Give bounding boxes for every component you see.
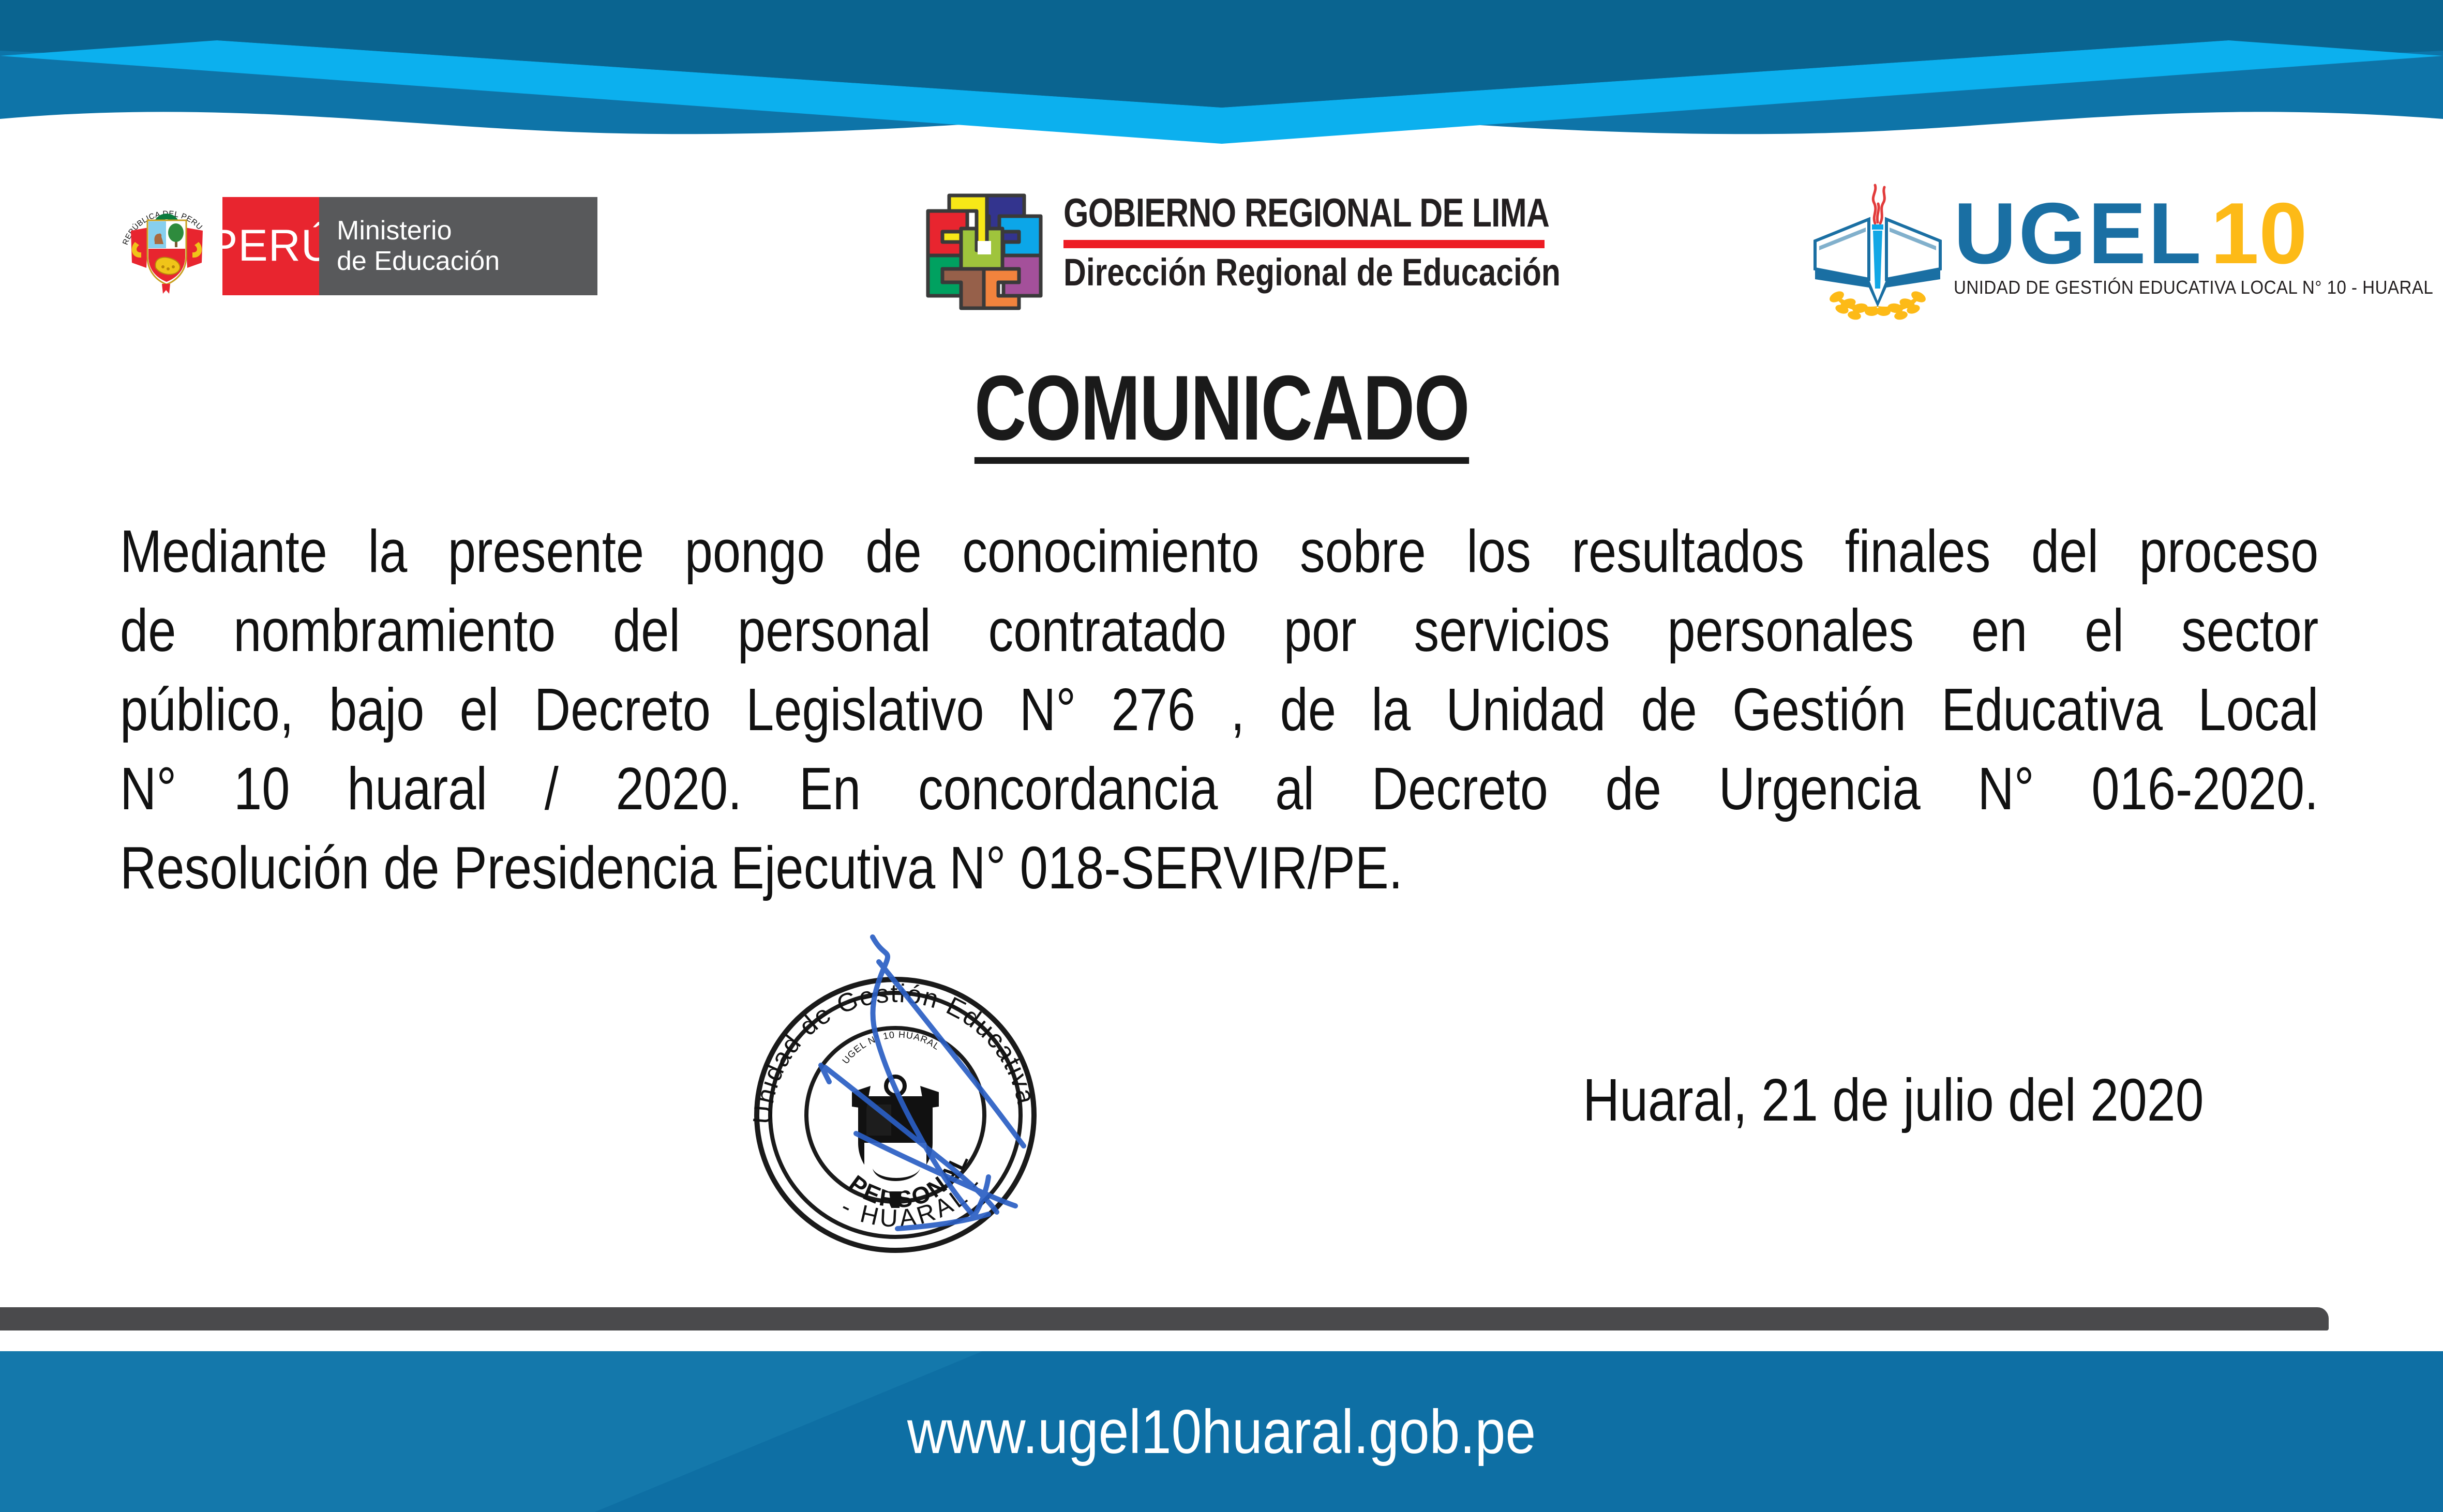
ugel10-logo: UGEL 10 UNIDAD DE GESTIÓN EDUCATIVA LOCA… xyxy=(1808,178,2443,323)
peru-coat-of-arms-icon: REPÚBLICA DEL PERU xyxy=(111,190,222,301)
ugel-wordmark: UGEL 10 xyxy=(1954,193,2443,274)
gobierno-regional-red-rule xyxy=(1063,240,1545,248)
logo-row: REPÚBLICA DEL PERU xyxy=(0,171,2443,357)
ugel-word: UGEL xyxy=(1954,193,2204,274)
page-title-container: COMUNICADO xyxy=(0,362,2443,464)
website-url[interactable]: www.ugel10huaral.gob.pe xyxy=(146,1351,2296,1512)
ministerio-block: Ministerio de Educación xyxy=(319,197,597,295)
ministerio-line2: de Educación xyxy=(337,246,597,276)
peru-wordmark-block: PERÚ xyxy=(222,197,319,295)
body-line-1: Mediante la presente pongo de conocimien… xyxy=(120,512,2318,591)
ugel-book-torch-icon xyxy=(1808,178,1947,323)
ugel-tagline: UNIDAD DE GESTIÓN EDUCATIVA LOCAL N° 10 … xyxy=(1954,277,2433,298)
official-round-stamp: Unidad de Gestión Educativa Local N° 10 … xyxy=(722,931,1073,1272)
peru-label: PERÚ xyxy=(208,220,334,271)
minedu-logo: REPÚBLICA DEL PERU xyxy=(111,190,597,301)
body-line-2: de nombramiento del personal contratado … xyxy=(120,591,2318,670)
comunicado-poster: REPÚBLICA DEL PERU xyxy=(0,0,2443,1512)
gobierno-regional-title: GOBIERNO REGIONAL DE LIMA xyxy=(1063,192,1549,233)
header-banner xyxy=(0,0,2443,171)
body-line-4: N° 10 huaral / 2020. En concordancia al … xyxy=(120,749,2318,828)
ministerio-line1: Ministerio xyxy=(337,216,597,246)
gobierno-regional-mosaic-icon xyxy=(921,184,1050,313)
document-body: Mediante la presente pongo de conocimien… xyxy=(120,512,2334,908)
date-line: Huaral, 21 de julio del 2020 xyxy=(1583,1065,2204,1135)
footer-banner: www.ugel10huaral.gob.pe xyxy=(0,1351,2443,1512)
page-title: COMUNICADO xyxy=(974,362,1468,464)
gobierno-regional-logo: GOBIERNO REGIONAL DE LIMA Dirección Regi… xyxy=(921,184,1671,313)
direccion-regional-subtitle: Dirección Regional de Educación xyxy=(1063,253,1562,292)
gray-divider-bar xyxy=(0,1307,2329,1330)
ugel-number: 10 xyxy=(2211,193,2307,274)
body-line-5: Resolución de Presidencia Ejecutiva N° 0… xyxy=(120,828,2334,908)
body-line-3: público, bajo el Decreto Legislativo N° … xyxy=(120,670,2318,749)
